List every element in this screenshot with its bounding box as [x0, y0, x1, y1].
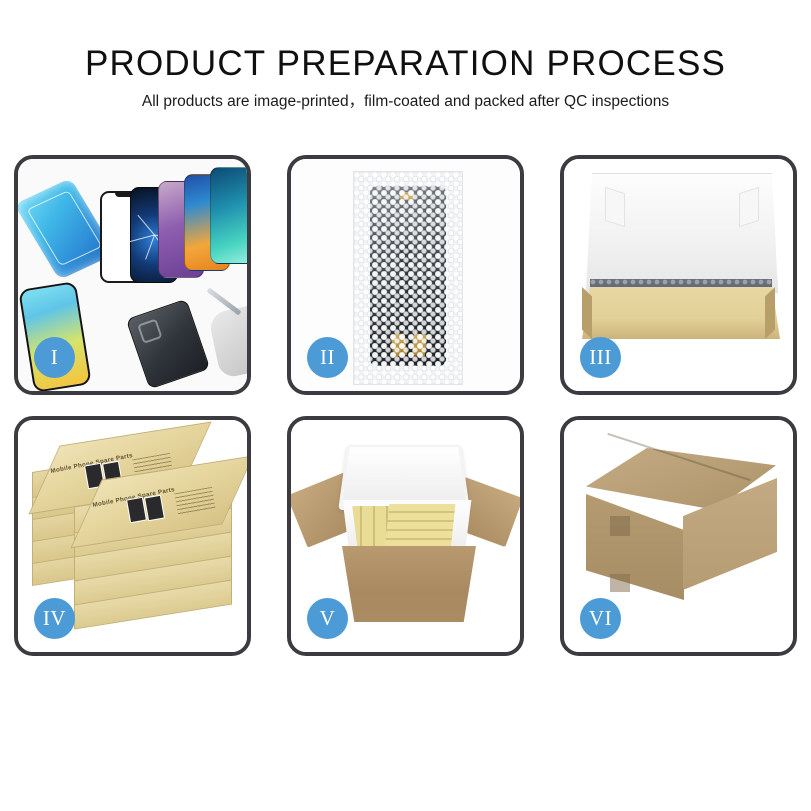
- process-step-panel-4: Mobile Phone Spare Parts Mobile Phone Sp…: [14, 416, 251, 656]
- box-lid-icon: [586, 173, 778, 293]
- step-badge-6: VI: [580, 598, 621, 639]
- page-title: PRODUCT PREPARATION PROCESS: [0, 42, 811, 86]
- step-badge-5: V: [307, 598, 348, 639]
- carton-body-icon: [333, 546, 485, 622]
- step-badge-3: III: [580, 337, 621, 378]
- header: PRODUCT PREPARATION PROCESS All products…: [0, 42, 811, 112]
- carton-tape-lower: [610, 574, 630, 592]
- step-badge-1: I: [34, 337, 75, 378]
- lid-flap-left: [605, 187, 625, 227]
- page-subtitle: All products are image-printed，film-coat…: [0, 92, 811, 112]
- phone-teal-icon: [210, 167, 247, 264]
- yellow-boxes-inside-rows: [385, 504, 456, 550]
- lid-flap-right: [739, 187, 759, 227]
- step-badge-4: IV: [34, 598, 75, 639]
- process-step-panel-6: VI: [560, 416, 797, 656]
- process-step-panel-1: I: [14, 155, 251, 395]
- process-step-panel-2: II: [287, 155, 524, 395]
- bubble-wrap-bag: [353, 171, 463, 385]
- carton-tape-upper: [610, 516, 630, 536]
- process-step-grid: I II: [14, 155, 797, 656]
- inner-box-tray-icon: [582, 287, 780, 339]
- process-step-panel-3: III: [560, 155, 797, 395]
- bubble-texture: [354, 172, 462, 384]
- step-badge-2: II: [307, 337, 348, 378]
- product-preparation-infographic: PRODUCT PREPARATION PROCESS All products…: [0, 0, 811, 811]
- process-step-panel-5: V: [287, 416, 524, 656]
